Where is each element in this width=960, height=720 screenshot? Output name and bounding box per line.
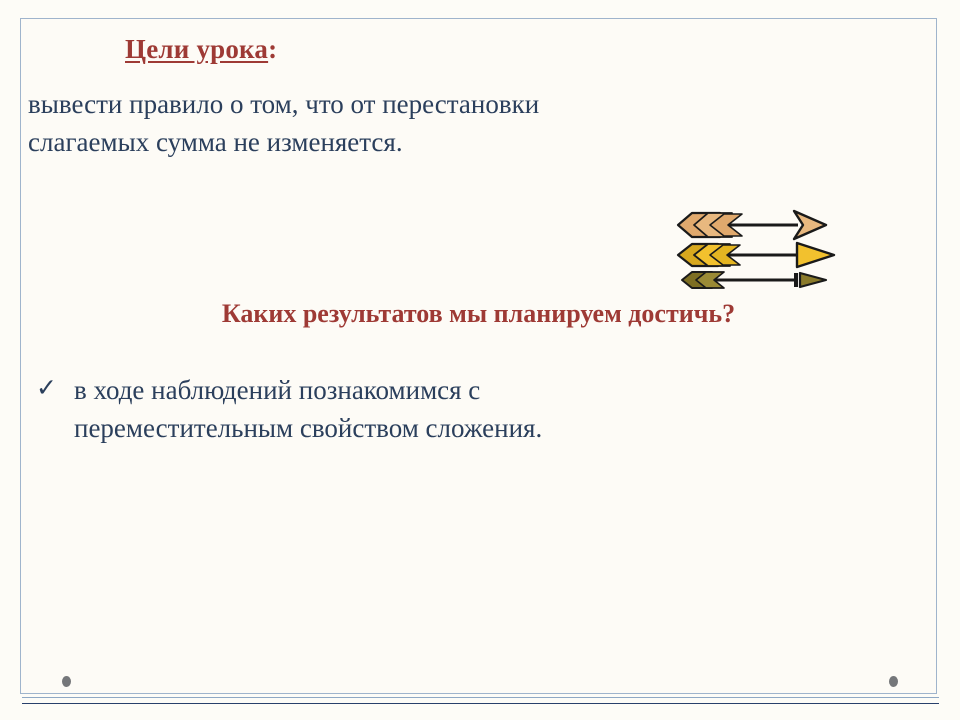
- arrow-2: [678, 243, 834, 267]
- goal-paragraph: в ходе наблюдений познакомимся с перемес…: [74, 371, 934, 448]
- page-title-colon: :: [268, 34, 277, 64]
- goal-list: ✓ в ходе наблюдений познакомимся с перем…: [28, 371, 934, 448]
- check-icon: ✓: [28, 371, 74, 407]
- decorative-dot-left: [62, 676, 71, 687]
- list-item: ✓ в ходе наблюдений познакомимся с перем…: [28, 371, 934, 448]
- bottom-rule-thin: [22, 697, 939, 698]
- three-arrows-icon: [658, 201, 848, 301]
- objective-paragraph: вывести правило о том, что от перестанов…: [28, 85, 932, 162]
- section-question-heading: Каких результатов мы планируем достичь?: [20, 299, 937, 329]
- bottom-rule: [22, 703, 939, 706]
- objective-line-2: слагаемых сумма не изменяется.: [28, 123, 932, 161]
- goal-line-1: в ходе наблюдений познакомимся с: [74, 375, 480, 405]
- decorative-dot-right: [889, 676, 898, 687]
- arrow-3: [682, 272, 826, 288]
- slide-canvas: Цели урока: вывести правило о том, что о…: [0, 0, 960, 720]
- page-title-underlined-text: Цели урока: [125, 34, 268, 64]
- objective-line-1: вывести правило о том, что от перестанов…: [28, 89, 539, 119]
- arrow-1: [678, 211, 826, 239]
- goal-line-2: переместительным свойством сложения.: [74, 409, 934, 447]
- slide-content: Цели урока: вывести правило о том, что о…: [20, 18, 937, 694]
- page-title: Цели урока:: [125, 34, 277, 65]
